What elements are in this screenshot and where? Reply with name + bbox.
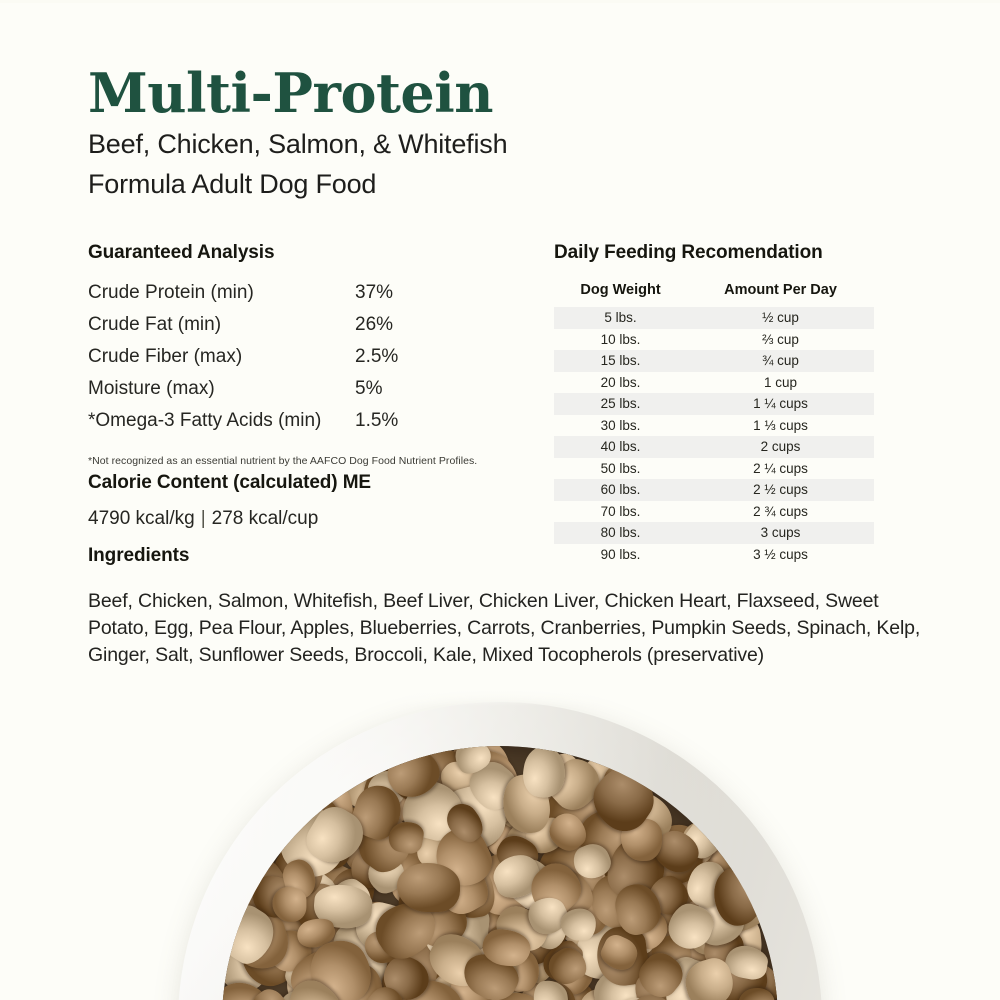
column-header-amount-per-day: Amount Per Day: [687, 282, 874, 307]
cell-dog-weight: 5 lbs.: [554, 307, 687, 329]
cell-amount-per-day: 2 cups: [687, 436, 874, 458]
ceramic-bowl: [178, 702, 822, 1000]
nutrient-row: Crude Protein (min) 37%: [88, 282, 518, 314]
kibble-piece: [397, 863, 460, 913]
bowl-interior: [222, 746, 778, 1000]
calorie-content-heading: Calorie Content (calculated) ME: [88, 472, 518, 494]
product-subtitle-line-1: Beef, Chicken, Salmon, & Whitefish: [88, 124, 688, 164]
table-row: 60 lbs. 2 ½ cups: [554, 479, 874, 501]
guaranteed-analysis-heading: Guaranteed Analysis: [88, 242, 518, 264]
calorie-separator: |: [195, 508, 212, 530]
nutrient-row: Crude Fat (min) 26%: [88, 314, 518, 346]
cell-dog-weight: 40 lbs.: [554, 436, 687, 458]
table-row: 5 lbs. ½ cup: [554, 307, 874, 329]
cell-dog-weight: 80 lbs.: [554, 522, 687, 544]
calorie-content-values: 4790 kcal/kg|278 kcal/cup: [88, 508, 518, 530]
ingredients-text: Beef, Chicken, Salmon, Whitefish, Beef L…: [88, 588, 923, 669]
table-row: 80 lbs. 3 cups: [554, 522, 874, 544]
nutrient-row: Moisture (max) 5%: [88, 378, 518, 410]
cell-dog-weight: 30 lbs.: [554, 415, 687, 437]
top-edge-hairline: [0, 0, 1000, 3]
product-subtitle-line-2: Formula Adult Dog Food: [88, 164, 688, 204]
daily-feeding-heading: Daily Feeding Recomendation: [554, 242, 874, 264]
nutrient-value: 2.5%: [355, 346, 398, 368]
cell-dog-weight: 15 lbs.: [554, 350, 687, 372]
cell-dog-weight: 50 lbs.: [554, 458, 687, 480]
nutrient-label: Moisture (max): [88, 378, 355, 400]
nutrient-label: Crude Fat (min): [88, 314, 355, 336]
kibble-piece: [272, 887, 306, 922]
calorie-per-kg: 4790 kcal/kg: [88, 508, 195, 529]
feeding-table-body: 5 lbs. ½ cup 10 lbs. ⅔ cup 15 lbs. ¾ cup…: [554, 307, 874, 565]
guaranteed-analysis-footnote: *Not recognized as an essential nutrient…: [88, 455, 518, 467]
feeding-table: Dog Weight Amount Per Day 5 lbs. ½ cup 1…: [554, 282, 874, 565]
daily-feeding-section: Daily Feeding Recomendation Dog Weight A…: [554, 242, 874, 565]
table-row: 70 lbs. 2 ¾ cups: [554, 501, 874, 523]
guaranteed-analysis-list: Crude Protein (min) 37% Crude Fat (min) …: [88, 282, 518, 442]
nutrient-label: Crude Protein (min): [88, 282, 355, 304]
nutrient-label: Crude Fiber (max): [88, 346, 355, 368]
page-title: Multi-Protein: [88, 62, 688, 124]
nutrient-row: *Omega-3 Fatty Acids (min) 1.5%: [88, 410, 518, 442]
table-row: 30 lbs. 1 ⅓ cups: [554, 415, 874, 437]
guaranteed-analysis-section: Guaranteed Analysis Crude Protein (min) …: [88, 242, 518, 467]
cell-dog-weight: 20 lbs.: [554, 372, 687, 394]
cell-amount-per-day: 3 ½ cups: [687, 544, 874, 566]
cell-amount-per-day: 2 ¼ cups: [687, 458, 874, 480]
cell-amount-per-day: 2 ½ cups: [687, 479, 874, 501]
cell-amount-per-day: ¾ cup: [687, 350, 874, 372]
photo-top-fade: [0, 690, 1000, 706]
table-row: 25 lbs. 1 ¼ cups: [554, 393, 874, 415]
table-row: 15 lbs. ¾ cup: [554, 350, 874, 372]
cell-dog-weight: 60 lbs.: [554, 479, 687, 501]
cell-amount-per-day: 2 ¾ cups: [687, 501, 874, 523]
cell-dog-weight: 25 lbs.: [554, 393, 687, 415]
feeding-table-head: Dog Weight Amount Per Day: [554, 282, 874, 307]
kibble-pile: [222, 746, 778, 1000]
column-header-dog-weight: Dog Weight: [554, 282, 687, 307]
table-row: 10 lbs. ⅔ cup: [554, 329, 874, 351]
cell-dog-weight: 90 lbs.: [554, 544, 687, 566]
cell-amount-per-day: 1 cup: [687, 372, 874, 394]
table-row: 20 lbs. 1 cup: [554, 372, 874, 394]
table-row: 50 lbs. 2 ¼ cups: [554, 458, 874, 480]
nutrient-value: 37%: [355, 282, 393, 304]
table-row: 40 lbs. 2 cups: [554, 436, 874, 458]
nutrient-value: 5%: [355, 378, 382, 400]
nutrient-value: 1.5%: [355, 410, 398, 432]
nutrient-label: *Omega-3 Fatty Acids (min): [88, 410, 355, 432]
cell-amount-per-day: ½ cup: [687, 307, 874, 329]
nutrient-row: Crude Fiber (max) 2.5%: [88, 346, 518, 378]
cell-amount-per-day: 1 ¼ cups: [687, 393, 874, 415]
table-row: 90 lbs. 3 ½ cups: [554, 544, 874, 566]
dog-food-bowl-photo: [0, 690, 1000, 1000]
calorie-content-section: Calorie Content (calculated) ME 4790 kca…: [88, 472, 518, 530]
cell-dog-weight: 70 lbs.: [554, 501, 687, 523]
cell-dog-weight: 10 lbs.: [554, 329, 687, 351]
calorie-per-cup: 278 kcal/cup: [212, 508, 319, 529]
cell-amount-per-day: 1 ⅓ cups: [687, 415, 874, 437]
nutrient-value: 26%: [355, 314, 393, 336]
title-block: Multi-Protein Beef, Chicken, Salmon, & W…: [88, 62, 688, 204]
cell-amount-per-day: 3 cups: [687, 522, 874, 544]
feeding-table-header-row: Dog Weight Amount Per Day: [554, 282, 874, 307]
product-detail-page: Multi-Protein Beef, Chicken, Salmon, & W…: [0, 0, 1000, 1000]
cell-amount-per-day: ⅔ cup: [687, 329, 874, 351]
